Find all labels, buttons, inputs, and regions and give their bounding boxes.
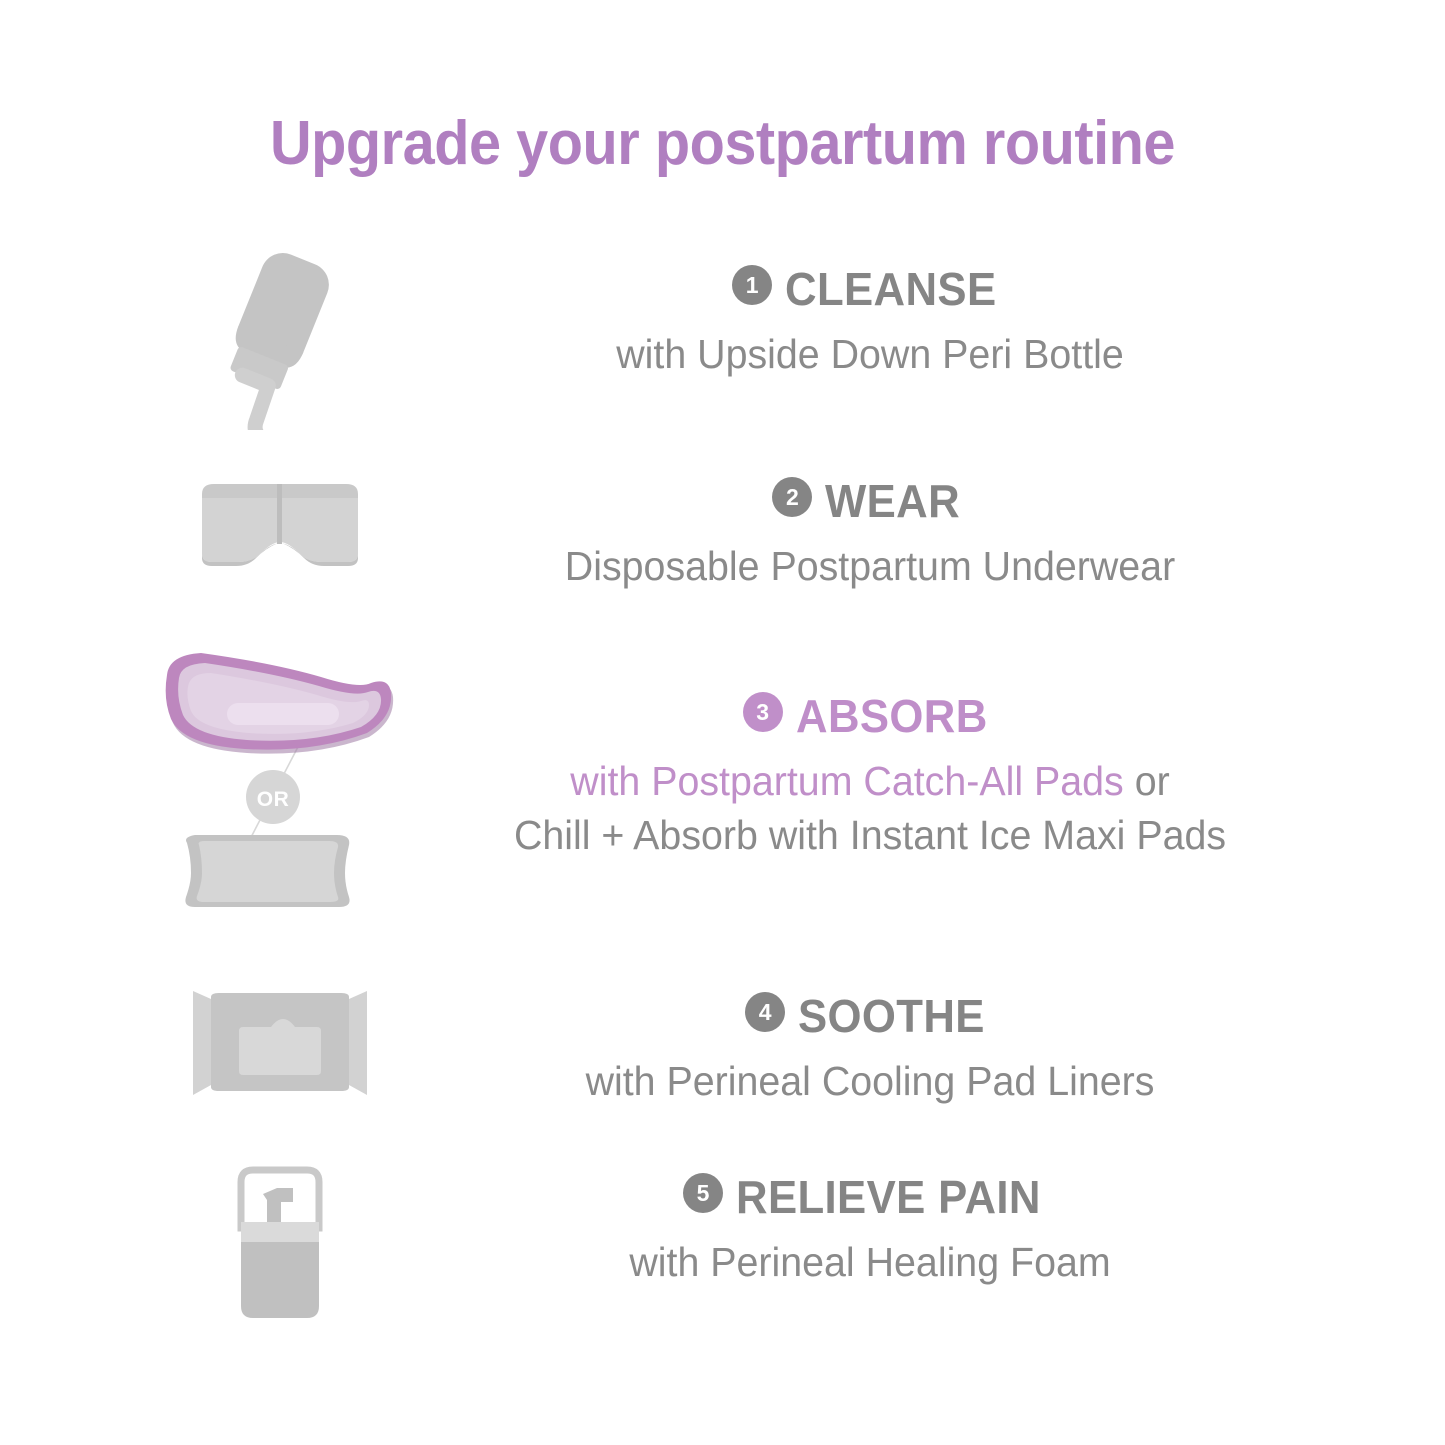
step-number-badge: 1: [732, 265, 772, 305]
instant-ice-maxi-pad-icon: [185, 835, 349, 907]
step-heading-line: 2WEAR: [420, 478, 1320, 524]
cooling-pad-liners-package-icon: [120, 975, 440, 1120]
underwear-glyph: [190, 462, 370, 612]
step-text-soothe: 4SOOTHE with Perineal Cooling Pad Liners: [420, 993, 1320, 1107]
step-subtext: with Perineal Healing Foam: [438, 1236, 1302, 1288]
step-heading-line: 4SOOTHE: [420, 993, 1320, 1039]
page-title: Upgrade your postpartum routine: [51, 108, 1395, 179]
peri-bottle-glyph: [180, 250, 380, 430]
step-subtext-secondary: Chill + Absorb with Instant Ice Maxi Pad…: [438, 809, 1302, 861]
step-text-absorb: 3ABSORB with Postpartum Catch-All Pads o…: [420, 693, 1320, 862]
or-label: OR: [257, 788, 290, 811]
infographic-canvas: Upgrade your postpartum routine: [0, 0, 1445, 1445]
step-number-badge: 5: [683, 1173, 723, 1213]
disposable-underwear-icon: [120, 462, 440, 612]
step-text-wear: 2WEAR Disposable Postpartum Underwear: [420, 478, 1320, 592]
or-badge-icon: OR: [246, 770, 300, 824]
absorb-icon-group: OR: [120, 645, 440, 935]
step-number-badge: 2: [772, 477, 812, 517]
step-text-cleanse: 1CLEANSE with Upside Down Peri Bottle: [420, 266, 1320, 380]
step-subtext-accent: with Postpartum Catch-All Pads: [570, 758, 1123, 804]
step-heading-line: 1CLEANSE: [420, 266, 1320, 312]
step-heading-label: RELIEVE PAIN: [736, 1174, 1041, 1220]
step-text-relieve-pain: 5RELIEVE PAIN with Perineal Healing Foam: [420, 1174, 1320, 1288]
step-subtext: Disposable Postpartum Underwear: [438, 540, 1302, 592]
peri-bottle-icon: [120, 250, 440, 430]
step-number-badge: 3: [743, 692, 783, 732]
wipes-package-glyph: [185, 975, 375, 1120]
foam-bottle-glyph: [215, 1160, 345, 1330]
step-heading-label: WEAR: [825, 478, 960, 524]
step-heading-label: CLEANSE: [785, 266, 996, 312]
step-heading-label: SOOTHE: [798, 993, 985, 1039]
absorb-icon-svg: OR: [155, 645, 405, 935]
step-number-badge: 4: [745, 992, 785, 1032]
step-heading-line: 5RELIEVE PAIN: [420, 1174, 1320, 1220]
healing-foam-bottle-icon: [120, 1160, 440, 1330]
step-heading-line: 3ABSORB: [420, 693, 1320, 739]
step-subtext: with Perineal Cooling Pad Liners: [438, 1055, 1302, 1107]
step-subtext-suffix: or: [1124, 758, 1170, 804]
step-heading-label: ABSORB: [796, 693, 988, 739]
step-subtext: with Upside Down Peri Bottle: [438, 328, 1302, 380]
catch-all-pad-icon: [166, 653, 393, 754]
step-subtext-primary: with Postpartum Catch-All Pads or: [438, 755, 1302, 807]
